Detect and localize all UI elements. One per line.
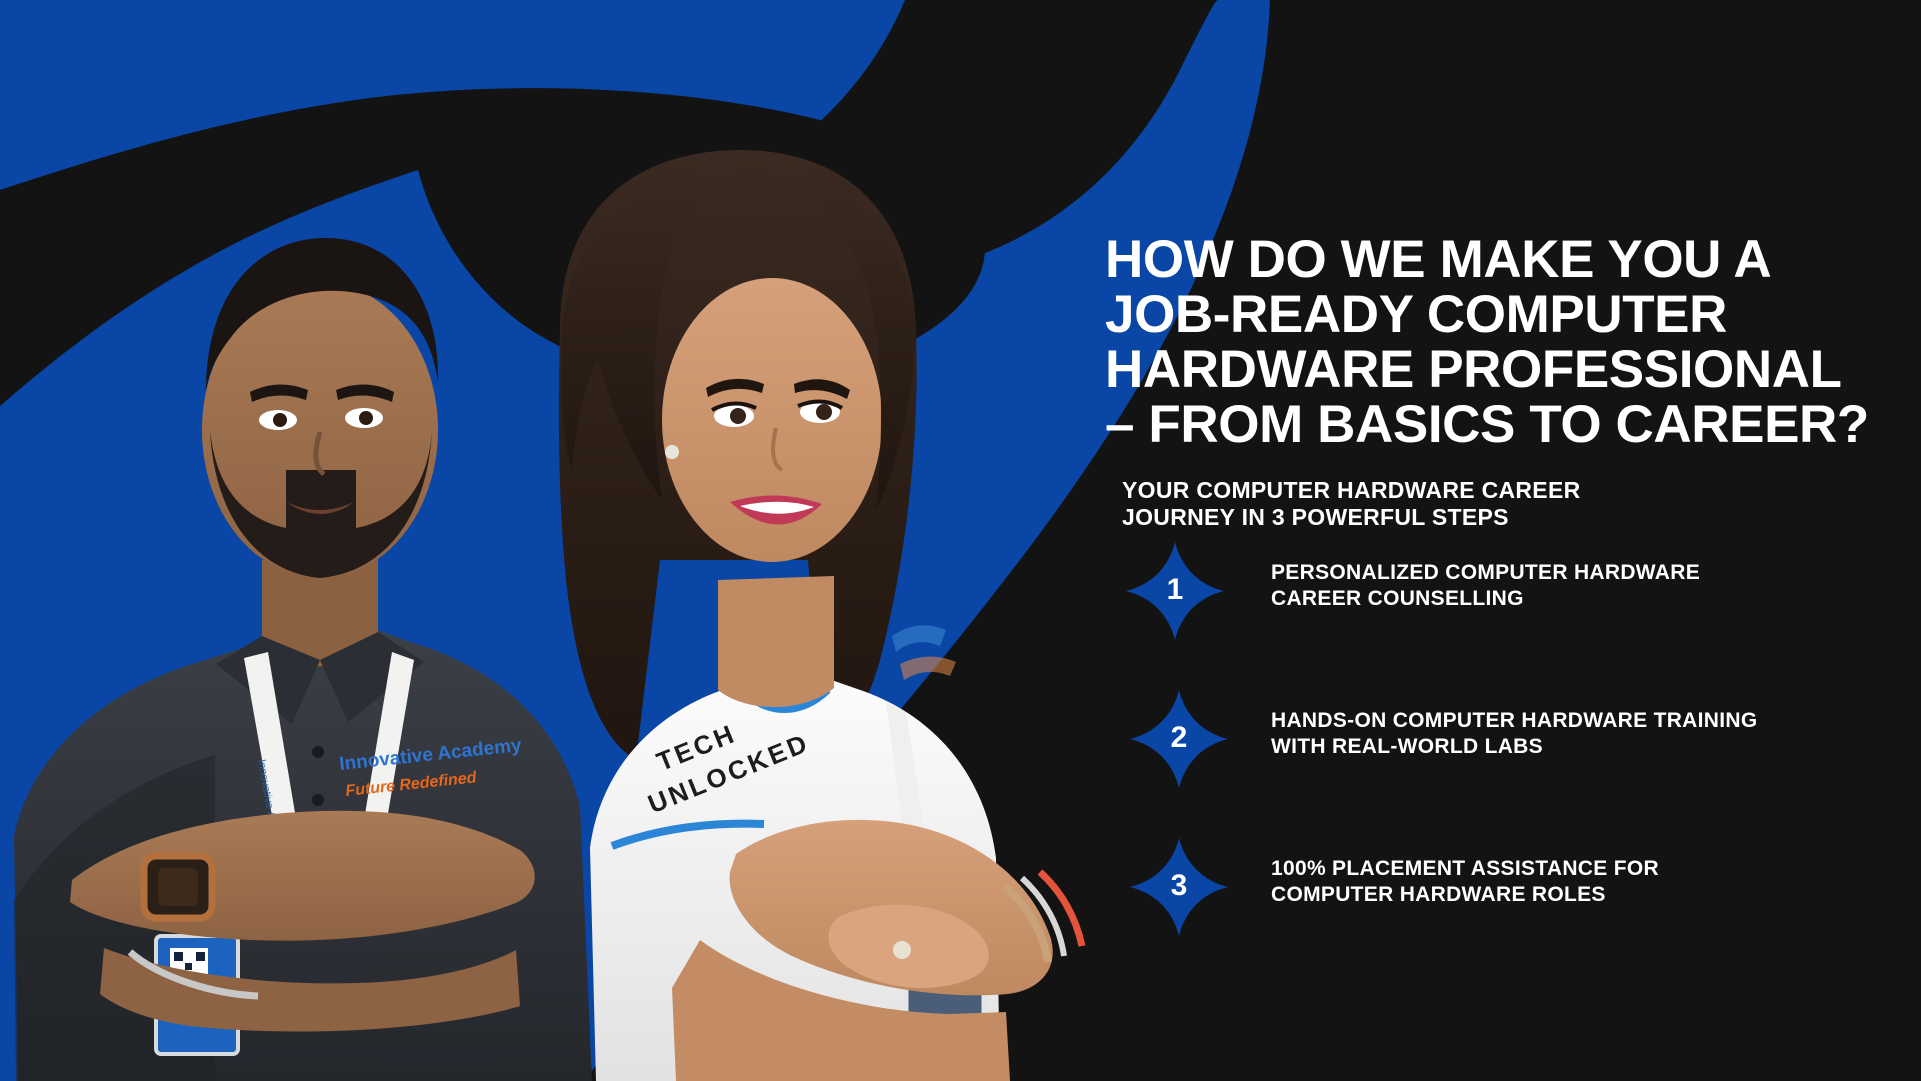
step-3-text: 100% PLACEMENT ASSISTANCE FOR COMPUTER H… [1229, 837, 1921, 908]
step-1-line-2: CAREER COUNSELLING [1271, 586, 1921, 612]
step-3-number: 3 [1129, 837, 1229, 937]
list-item: 1 PERSONALIZED COMPUTER HARDWARE CAREER … [1105, 541, 1921, 689]
list-item: 2 HANDS-ON COMPUTER HARDWARE TRAINING WI… [1105, 689, 1921, 837]
content-column: HOW DO WE MAKE YOU A JOB-READY COMPUTER … [1105, 0, 1921, 1081]
step-1-text: PERSONALIZED COMPUTER HARDWARE CAREER CO… [1225, 541, 1921, 612]
step-1-badge: 1 [1125, 541, 1225, 641]
step-3-line-1: 100% PLACEMENT ASSISTANCE FOR [1271, 856, 1921, 882]
step-1-line-1: PERSONALIZED COMPUTER HARDWARE [1271, 560, 1921, 586]
subheadline-line-2: JOURNEY IN 3 POWERFUL STEPS [1122, 504, 1762, 531]
step-2-number: 2 [1129, 689, 1229, 789]
step-3-badge: 3 [1129, 837, 1229, 937]
steps-list: 1 PERSONALIZED COMPUTER HARDWARE CAREER … [1105, 541, 1921, 985]
headline-line-2: JOB-READY COMPUTER [1105, 287, 1905, 342]
step-3-line-2: COMPUTER HARDWARE ROLES [1271, 882, 1921, 908]
step-2-line-2: WITH REAL-WORLD LABS [1271, 734, 1921, 760]
step-2-text: HANDS-ON COMPUTER HARDWARE TRAINING WITH… [1229, 689, 1921, 760]
headline-line-1: HOW DO WE MAKE YOU A [1105, 232, 1905, 287]
subheadline-line-1: YOUR COMPUTER HARDWARE CAREER [1122, 477, 1762, 504]
page-title: HOW DO WE MAKE YOU A JOB-READY COMPUTER … [1105, 232, 1905, 452]
step-2-line-1: HANDS-ON COMPUTER HARDWARE TRAINING [1271, 708, 1921, 734]
list-item: 3 100% PLACEMENT ASSISTANCE FOR COMPUTER… [1105, 837, 1921, 985]
promo-banner: Innovative Academy Innovative Academy Fu… [0, 0, 1921, 1081]
step-1-number: 1 [1125, 541, 1225, 641]
step-2-badge: 2 [1129, 689, 1229, 789]
page-subtitle: YOUR COMPUTER HARDWARE CAREER JOURNEY IN… [1122, 477, 1762, 531]
headline-line-3: HARDWARE PROFESSIONAL [1105, 342, 1905, 397]
headline-line-4: – FROM BASICS TO CAREER? [1105, 397, 1905, 452]
